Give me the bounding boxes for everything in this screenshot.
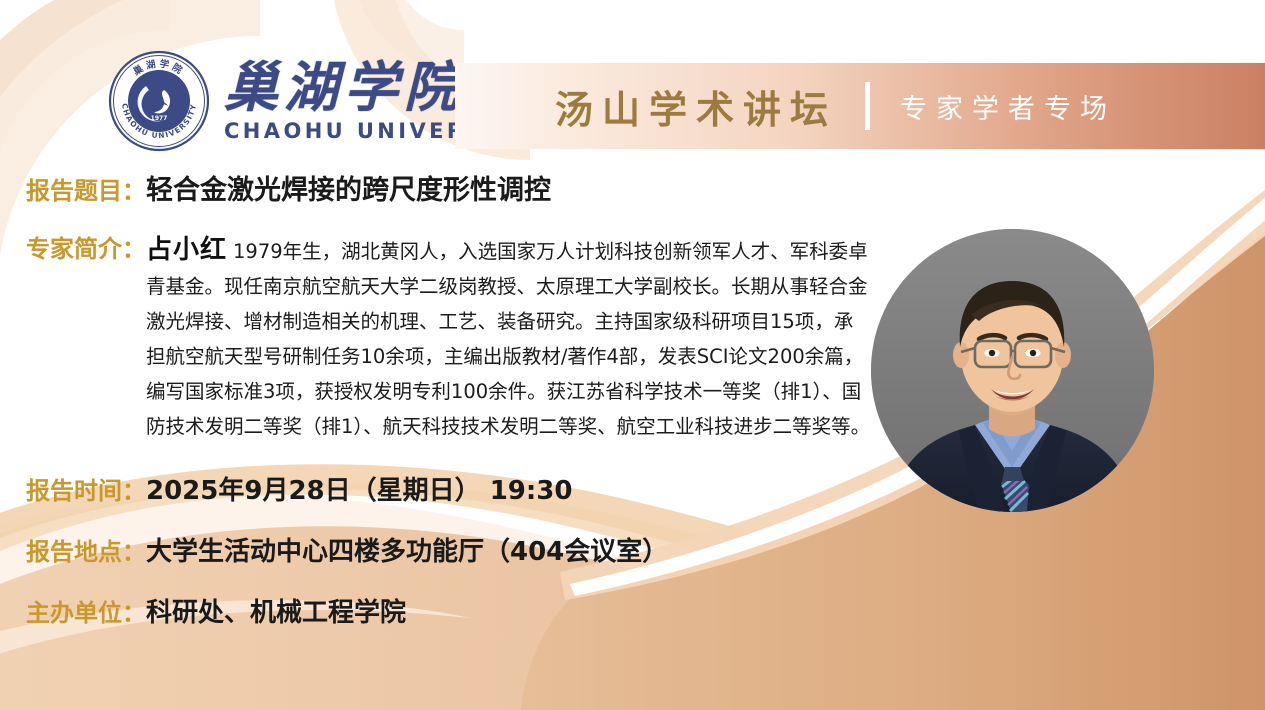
report-place-label: 报告地点：	[26, 532, 146, 567]
poster-header: 1977 巢湖学院 CHAOHU UNIVERSITY 巢湖学院 CHAOHU …	[0, 0, 1265, 160]
university-name-cn: 巢湖学院	[224, 60, 464, 114]
speaker-bio-label: 专家简介：	[26, 229, 146, 264]
speaker-bio-text: 1979年生，湖北黄冈人，入选国家万人计划科技创新领军人才、军科委卓青基金。现任…	[146, 240, 870, 438]
report-host-row: 主办单位： 科研处、机械工程学院	[0, 592, 1265, 629]
report-time-label: 报告时间：	[26, 471, 146, 506]
event-banner: 汤山学术讲坛 专家学者专场	[455, 63, 1265, 149]
seminar-poster: 1977 巢湖学院 CHAOHU UNIVERSITY 巢湖学院 CHAOHU …	[0, 0, 1265, 710]
speaker-portrait	[871, 229, 1154, 512]
report-time-value: 2025年9月28日（星期日） 19:30	[146, 470, 572, 507]
report-title-label: 报告题目：	[26, 171, 146, 206]
speaker-name: 占小红	[146, 235, 227, 265]
report-host-value: 科研处、机械工程学院	[146, 592, 406, 629]
svg-text:1977: 1977	[151, 115, 168, 122]
report-title-value: 轻合金激光焊接的跨尺度形性调控	[146, 168, 551, 207]
banner-divider	[865, 82, 870, 130]
banner-subtitle: 专家学者专场	[900, 87, 1116, 126]
banner-title: 汤山学术讲坛	[555, 79, 837, 134]
university-seal-icon: 1977 巢湖学院 CHAOHU UNIVERSITY	[108, 50, 210, 152]
report-place-row: 报告地点： 大学生活动中心四楼多功能厅（404会议室）	[0, 531, 1265, 568]
report-place-value: 大学生活动中心四楼多功能厅（404会议室）	[146, 531, 668, 568]
report-title-row: 报告题目： 轻合金激光焊接的跨尺度形性调控	[0, 168, 1265, 207]
report-host-label: 主办单位：	[26, 593, 146, 628]
speaker-bio-body: 占小红1979年生，湖北黄冈人，入选国家万人计划科技创新领军人才、军科委卓青基金…	[146, 229, 871, 444]
